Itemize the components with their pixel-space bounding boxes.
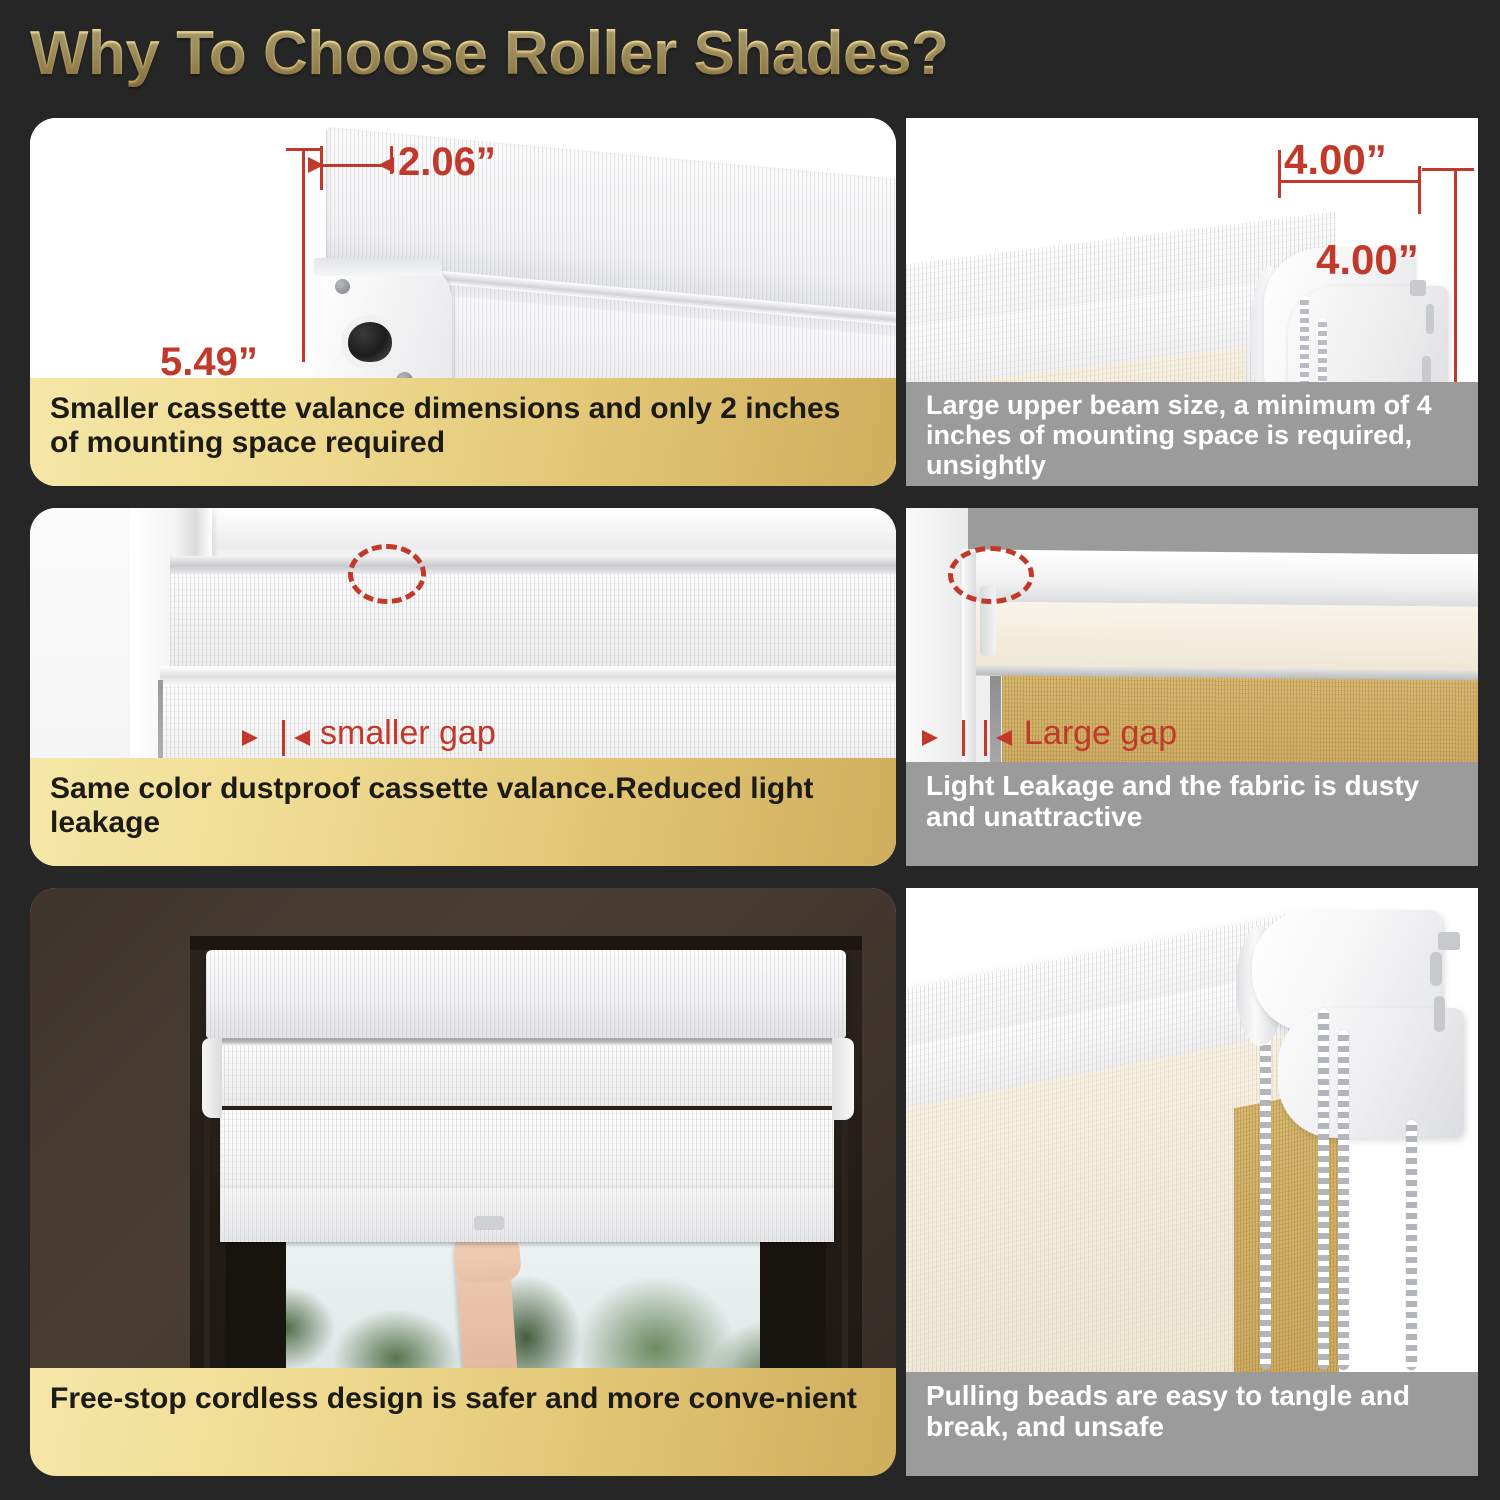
dimension-label-height: 4.00”: [1316, 236, 1419, 284]
panel-smaller-gap: smaller gap Same color dustproof cassett…: [30, 508, 896, 866]
panel-2-caption: Large upper beam size, a minimum of 4 in…: [906, 382, 1478, 486]
dim-arrow-right-icon: [378, 157, 394, 173]
dimension-label-width: 4.00”: [1284, 136, 1387, 184]
panel-pulling-beads: Pulling beads are easy to tangle and bre…: [906, 888, 1478, 1476]
dim-arrow-left-icon: [308, 157, 324, 173]
panel-5-caption: Free-stop cordless design is safer and m…: [30, 1368, 896, 1476]
gap-callout-label: smaller gap: [320, 714, 496, 753]
highlight-ellipse-icon: [948, 546, 1034, 604]
dim-line-height: [1454, 170, 1457, 404]
panel-large-beam: 4.00” 4.00” Large upper beam size, a min…: [906, 118, 1478, 486]
gap-tick: [282, 720, 285, 756]
panel-1-caption: Smaller cassette valance dimensions and …: [30, 378, 896, 486]
gap-tick-a: [962, 720, 965, 756]
gap-arrow-left-icon: [242, 730, 258, 746]
dimension-label-width: 2.06”: [398, 140, 496, 185]
gap-arrow-left-icon: [922, 730, 938, 746]
dim-cap-top: [1422, 168, 1474, 171]
panel-3-caption: Same color dustproof cassette valance.Re…: [30, 758, 896, 866]
panel-large-gap: Large gap Light Leakage and the fabric i…: [906, 508, 1478, 866]
gap-callout-label: Large gap: [1024, 714, 1177, 753]
dim-tick-left: [1278, 150, 1281, 198]
panel-cassette-dimensions: 2.06” 5.49” Smaller cassette valance dim…: [30, 118, 896, 486]
panel-4-caption: Light Leakage and the fabric is dusty an…: [906, 762, 1478, 866]
highlight-ellipse-icon: [348, 544, 426, 604]
dim-cap-top: [286, 148, 320, 151]
dim-tick-right: [1418, 166, 1421, 214]
comparison-grid: 2.06” 5.49” Smaller cassette valance dim…: [0, 0, 1500, 1500]
gap-arrow-right-icon: [294, 730, 310, 746]
gap-arrow-right-icon: [996, 730, 1012, 746]
gap-tick-b: [984, 720, 987, 756]
panel-cordless-room: Free-stop cordless design is safer and m…: [30, 888, 896, 1476]
dim-line-height-top: [302, 150, 305, 362]
panel-6-caption: Pulling beads are easy to tangle and bre…: [906, 1372, 1478, 1476]
